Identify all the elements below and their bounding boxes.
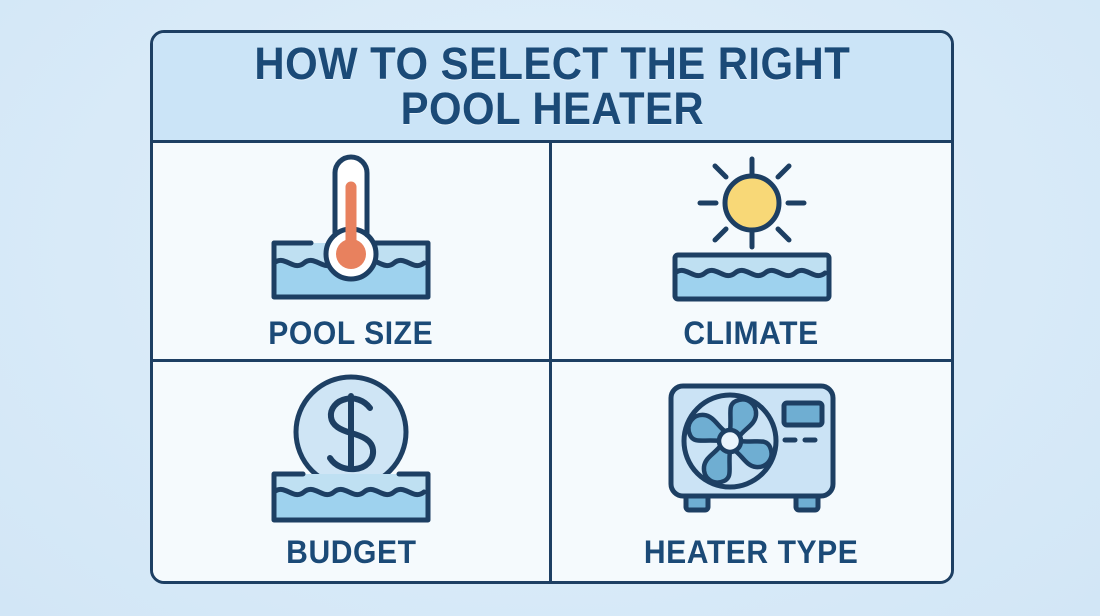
grid-cell-budget[interactable]: BUDGET	[153, 362, 552, 581]
grid-cell-pool-size[interactable]: POOL SIZE	[153, 143, 552, 362]
cell-label-budget: BUDGET	[286, 534, 416, 571]
factors-grid: POOL SIZE	[153, 143, 951, 581]
infographic-stage: HOW TO SELECT THE RIGHT POOL HEATER	[0, 0, 1100, 616]
page-title: HOW TO SELECT THE RIGHT POOL HEATER	[254, 42, 850, 130]
grid-cell-climate[interactable]: CLIMATE	[552, 143, 951, 362]
sun-over-pool-icon	[552, 143, 951, 313]
thermometer-in-pool-icon	[153, 143, 549, 313]
card-header: HOW TO SELECT THE RIGHT POOL HEATER	[153, 33, 951, 143]
dollar-coin-in-pool-icon	[153, 362, 549, 532]
cell-label-heater-type: HEATER TYPE	[644, 534, 859, 571]
infographic-card: HOW TO SELECT THE RIGHT POOL HEATER	[150, 30, 954, 584]
grid-cell-heater-type[interactable]: HEATER TYPE	[552, 362, 951, 581]
cell-label-pool-size: POOL SIZE	[268, 315, 433, 352]
heat-pump-unit-icon	[552, 362, 951, 532]
cell-label-climate: CLIMATE	[684, 315, 819, 352]
